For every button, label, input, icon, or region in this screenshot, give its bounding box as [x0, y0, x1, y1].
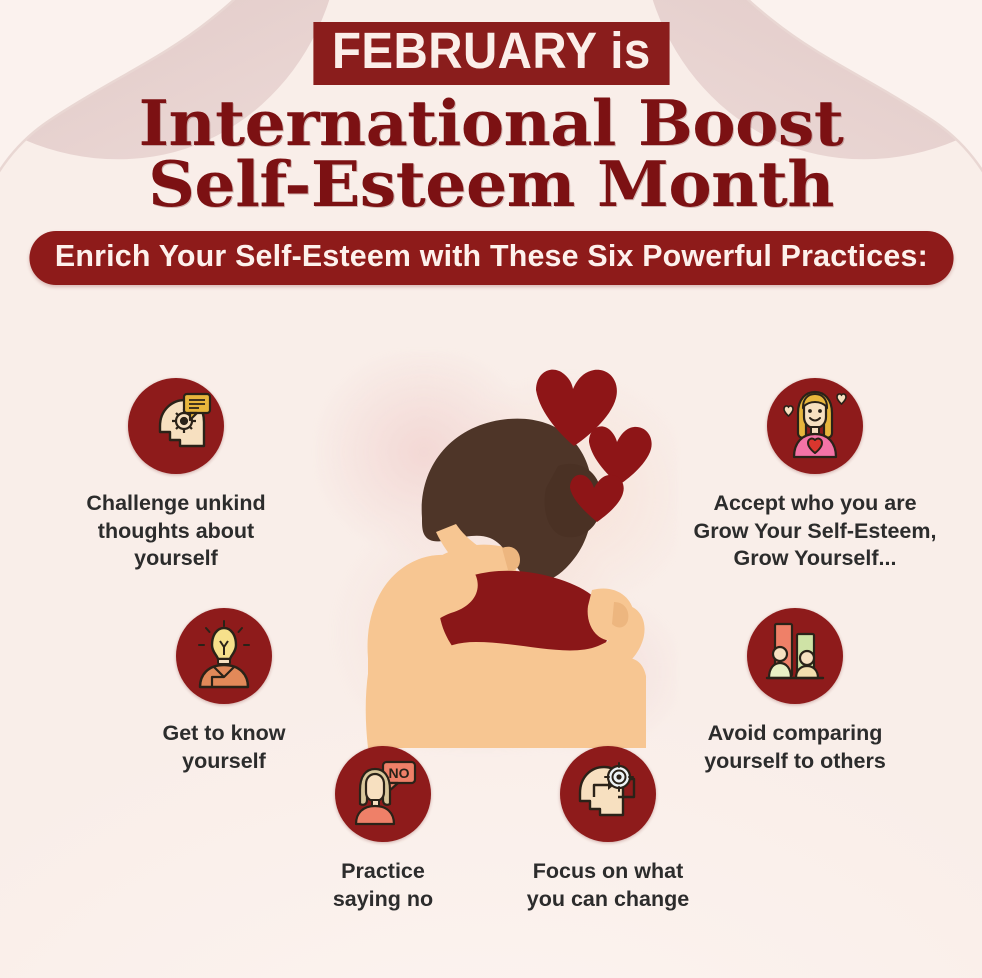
practice-item-practice-saying-no[interactable]: NO Practice saying no	[268, 746, 498, 913]
head-gear-speech-bubble-icon	[140, 388, 212, 465]
head-target-arrow-icon	[572, 757, 644, 832]
title-line-2: Self-Esteem Month	[0, 154, 982, 215]
practice-icon-circle	[176, 608, 272, 704]
title-line-1: International Boost	[0, 93, 982, 154]
practice-icon-circle	[767, 378, 863, 474]
bar-chart-two-people-icon	[761, 620, 829, 693]
girl-with-heart-icon	[778, 387, 852, 466]
practice-item-accept-who-you-are[interactable]: Accept who you are Grow Your Self-Esteem…	[670, 378, 960, 573]
practice-icon-circle	[560, 746, 656, 842]
subtitle-banner: Enrich Your Self-Esteem with These Six P…	[29, 231, 953, 285]
lightbulb-person-icon	[190, 619, 258, 694]
practice-caption: Practice saying no	[268, 858, 498, 913]
practice-icon-circle: NO	[335, 746, 431, 842]
svg-text:NO: NO	[389, 765, 410, 781]
poster-header: FEBRUARY is International Boost Self-Est…	[0, 0, 982, 285]
practice-caption: Challenge unkind thoughts about yourself	[40, 490, 312, 573]
practice-icon-circle	[747, 608, 843, 704]
practice-caption: Accept who you are Grow Your Self-Esteem…	[670, 490, 960, 573]
poster-canvas: FEBRUARY is International Boost Self-Est…	[0, 0, 982, 978]
month-banner: FEBRUARY is	[313, 22, 669, 85]
person-no-speech-bubble-icon: NO	[348, 758, 418, 831]
practice-item-challenge-unkind-thoughts[interactable]: Challenge unkind thoughts about yourself	[40, 378, 312, 573]
practice-icon-circle	[128, 378, 224, 474]
practice-item-focus-on-what-you-can-change[interactable]: Focus on what you can change	[492, 746, 724, 913]
practice-caption: Focus on what you can change	[492, 858, 724, 913]
hearts-group	[520, 360, 670, 540]
heart-medium	[589, 426, 652, 485]
heart-small	[570, 475, 624, 522]
page-title: International Boost Self-Esteem Month	[0, 93, 982, 215]
